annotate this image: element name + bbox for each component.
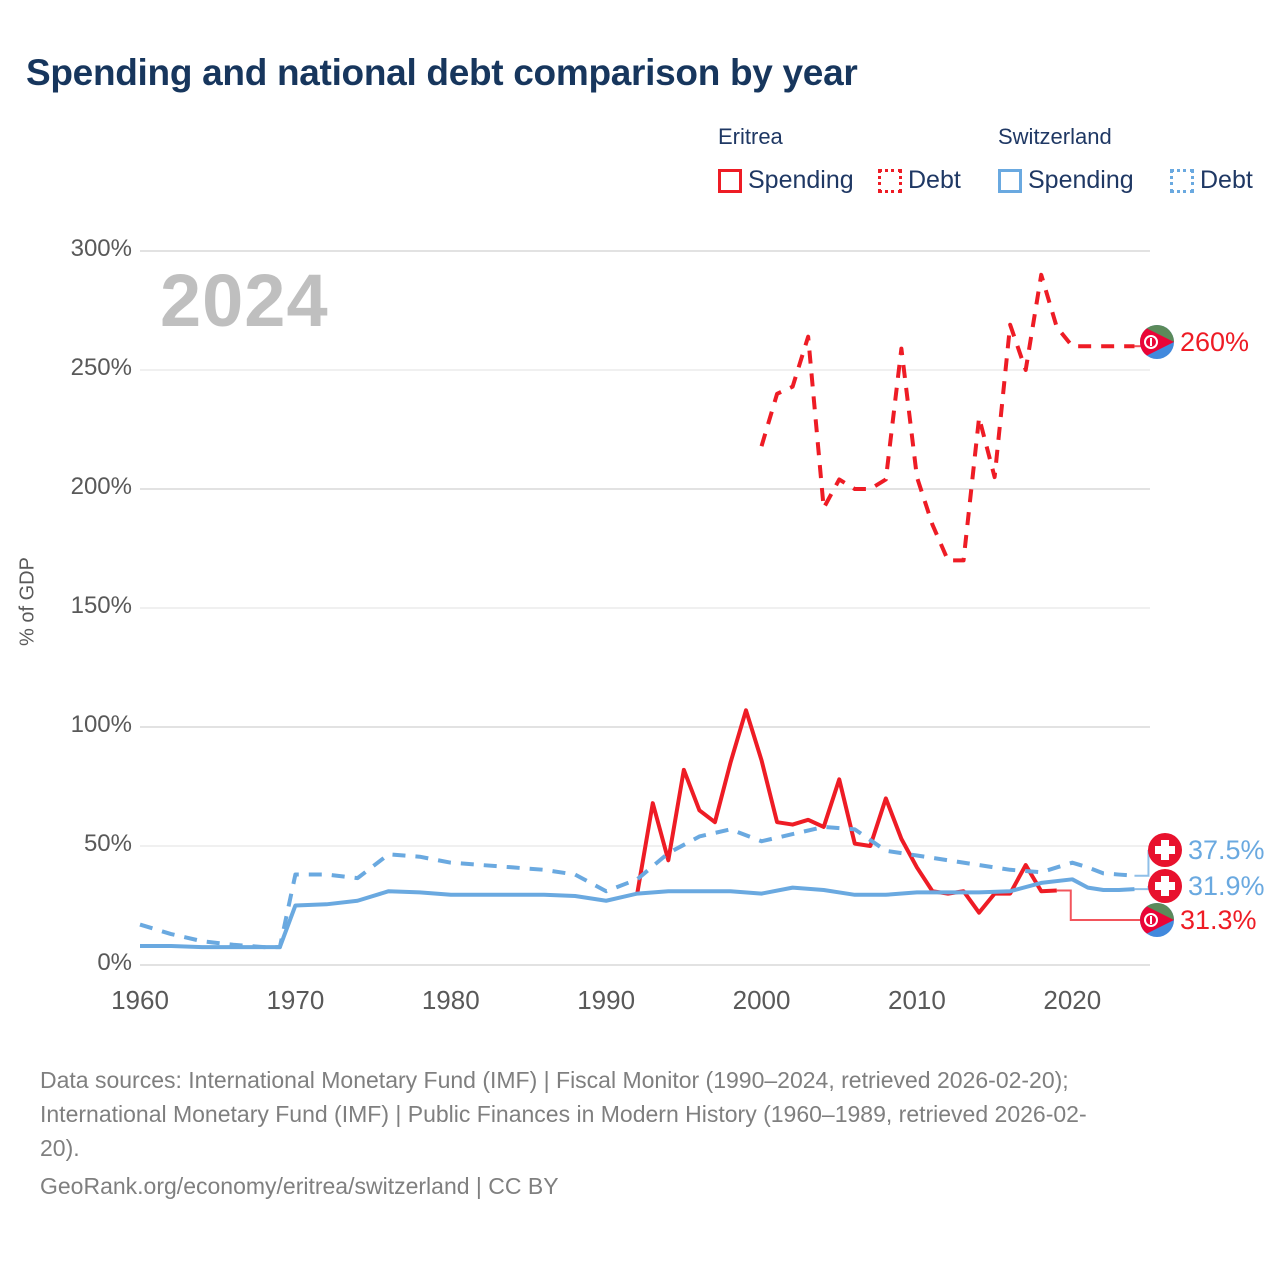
end-label-switzerland-debt[interactable]: 37.5% [1148, 833, 1265, 867]
eritrea-flag-icon [1140, 903, 1174, 937]
x-axis-tick-label: 2020 [1043, 985, 1101, 1016]
x-axis-tick-label: 2000 [733, 985, 791, 1016]
end-label-value-eritrea-debt: 260% [1180, 327, 1249, 358]
footer-source-line-1: Data sources: International Monetary Fun… [40, 1063, 1240, 1097]
endpoint-connector [1134, 886, 1148, 889]
endpoint-connector [1057, 891, 1142, 920]
x-axis-ticks: 1960197019801990200020102020 [0, 985, 1280, 1035]
y-axis-ticks: 0%50%100%150%200%250%300% [40, 0, 132, 1000]
y-axis-tick-label: 150% [40, 592, 132, 620]
footer: Data sources: International Monetary Fun… [40, 1063, 1240, 1203]
series-line-eritrea-spending [637, 710, 1057, 912]
end-label-value-switzerland-debt: 37.5% [1188, 835, 1265, 866]
end-label-eritrea-debt[interactable]: 260% [1140, 325, 1249, 359]
switzerland-flag-icon [1148, 869, 1182, 903]
y-axis-tick-label: 300% [40, 235, 132, 263]
footer-link[interactable]: GeoRank.org/economy/eritrea/switzerland … [40, 1169, 1240, 1203]
x-axis-tick-label: 1980 [422, 985, 480, 1016]
eritrea-flag-icon [1140, 325, 1174, 359]
y-axis-tick-label: 250% [40, 354, 132, 382]
end-label-switzerland-spending[interactable]: 31.9% [1148, 869, 1265, 903]
y-axis-tick-label: 100% [40, 711, 132, 739]
x-axis-tick-label: 2010 [888, 985, 946, 1016]
end-label-eritrea-spending[interactable]: 31.3% [1140, 903, 1257, 937]
y-axis-tick-label: 50% [40, 830, 132, 858]
x-axis-tick-label: 1990 [577, 985, 635, 1016]
endpoint-connector [1134, 850, 1148, 876]
x-axis-tick-label: 1970 [266, 985, 324, 1016]
end-label-value-switzerland-spending: 31.9% [1188, 871, 1265, 902]
series-line-eritrea-debt [762, 275, 1135, 561]
chart-endpoint-connectors [1057, 346, 1149, 920]
footer-source-line-2: International Monetary Fund (IMF) | Publ… [40, 1097, 1240, 1131]
x-axis-tick-label: 1960 [111, 985, 169, 1016]
switzerland-flag-icon [1148, 833, 1182, 867]
y-axis-title: % of GDP [17, 522, 40, 682]
y-axis-tick-label: 0% [40, 949, 132, 977]
end-label-value-eritrea-spending: 31.3% [1180, 905, 1257, 936]
footer-source-line-3: 20). [40, 1131, 1240, 1165]
y-axis-tick-label: 200% [40, 473, 132, 501]
